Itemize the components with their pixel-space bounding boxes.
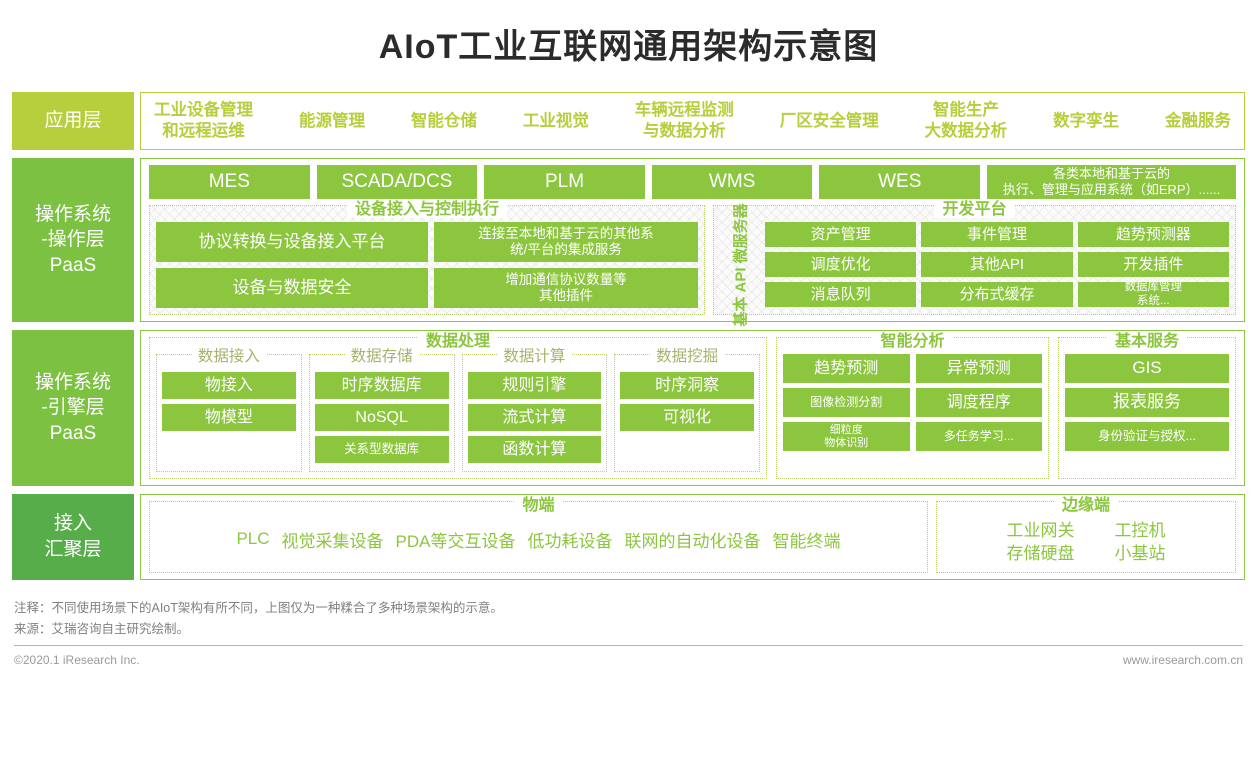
box-image-detection-segmentation[interactable]: 图像检测分割 <box>783 388 910 417</box>
group-basic-services: 基本服务 GIS 报表服务 身份验证与授权... <box>1058 337 1236 479</box>
footer-divider <box>14 645 1243 646</box>
box-integration-service[interactable]: 连接至本地和基于云的其他系 统/平台的集成服务 <box>434 222 698 262</box>
edge-item-small-base-station[interactable]: 小基站 <box>1115 543 1166 566</box>
system-box-wes[interactable]: WES <box>819 165 980 199</box>
box-scheduling-optimization[interactable]: 调度优化 <box>765 252 916 277</box>
box-trend-prediction[interactable]: 趋势预测 <box>783 354 910 383</box>
subgroup-title-data-mining: 数据挖掘 <box>615 344 759 366</box>
app-item-energy-mgmt[interactable]: 能源管理 <box>296 111 368 132</box>
thing-side-items: PLC 视觉采集设备 PDA等交互设备 低功耗设备 联网的自动化设备 智能终端 <box>156 518 921 560</box>
box-visualization[interactable]: 可视化 <box>620 404 754 431</box>
edge-item-industrial-computer[interactable]: 工控机 <box>1115 520 1166 543</box>
box-timeseries-database[interactable]: 时序数据库 <box>315 372 449 399</box>
system-box-wms[interactable]: WMS <box>652 165 813 199</box>
thing-item-networked-automation-device[interactable]: 联网的自动化设备 <box>625 527 761 552</box>
group-title-thing-side: 物端 <box>150 491 927 515</box>
basic-services-boxes: GIS 报表服务 身份验证与授权... <box>1065 354 1229 451</box>
group-intelligent-analysis: 智能分析 趋势预测 图像检测分割 细粒度 物体识别 异常预测 调度程序 多任务学… <box>776 337 1049 479</box>
box-timeseries-insight[interactable]: 时序洞察 <box>620 372 754 399</box>
dev-platform-column-1: 资产管理 调度优化 消息队列 <box>765 222 916 307</box>
data-computation-boxes: 规则引擎 流式计算 函数计算 <box>468 372 602 463</box>
layer-label-engine-line1: 操作系统 <box>35 370 111 396</box>
box-trend-predictor[interactable]: 趋势预测器 <box>1078 222 1229 247</box>
operation-systems-row: MES SCADA/DCS PLM WMS WES 各类本地和基于云的 执行、管… <box>149 165 1236 199</box>
dev-platform-column-2: 事件管理 其他API 分布式缓存 <box>921 222 1072 307</box>
app-item-smart-warehouse[interactable]: 智能仓储 <box>408 111 480 132</box>
system-box-erp-other[interactable]: 各类本地和基于云的 执行、管理与应用系统（如ERP）...... <box>987 165 1236 199</box>
box-rule-engine[interactable]: 规则引擎 <box>468 372 602 399</box>
edge-side-column-1: 工业网关 存储硬盘 <box>1007 520 1075 566</box>
page-title: AIoT工业互联网通用架构示意图 <box>0 0 1257 92</box>
edge-side-column-2: 工控机 小基站 <box>1115 520 1166 566</box>
app-item-vehicle-monitoring[interactable]: 车辆远程监测 与数据分析 <box>632 100 737 141</box>
layer-body-operation: MES SCADA/DCS PLM WMS WES 各类本地和基于云的 执行、管… <box>140 158 1245 322</box>
edge-item-storage-disk[interactable]: 存储硬盘 <box>1007 543 1075 566</box>
development-platform-columns: 资产管理 调度优化 消息队列 事件管理 其他API 分布式缓存 趋势预测器 <box>765 222 1229 307</box>
box-asset-management[interactable]: 资产管理 <box>765 222 916 247</box>
group-edge-side: 边缘端 工业网关 存储硬盘 工控机 小基站 <box>936 501 1236 573</box>
group-development-platform: 开发平台 基本 API 微服务器 资产管理 调度优化 消息队列 <box>713 205 1236 315</box>
engine-groups-row: 数据处理 数据接入 物接入 物模型 <box>149 337 1236 479</box>
thing-item-pda-interactive-device[interactable]: PDA等交互设备 <box>396 527 516 552</box>
intelligent-analysis-column-1: 趋势预测 图像检测分割 细粒度 物体识别 <box>783 354 910 451</box>
footer-note-line1: 注释：不同使用场景下的AIoT架构有所不同，上图仅为一种糅合了多种场景架构的示意… <box>14 598 1243 619</box>
group-data-processing: 数据处理 数据接入 物接入 物模型 <box>149 337 767 479</box>
subgroup-title-data-ingestion: 数据接入 <box>157 344 301 366</box>
data-storage-boxes: 时序数据库 NoSQL 关系型数据库 <box>315 372 449 463</box>
device-access-right-column: 连接至本地和基于云的其他系 统/平台的集成服务 增加通信协议数量等 其他插件 <box>434 222 698 308</box>
dev-platform-column-3: 趋势预测器 开发插件 数据库管理 系统... <box>1078 222 1229 307</box>
layer-label-engine: 操作系统 -引擎层 PaaS <box>12 330 134 486</box>
box-anomaly-prediction[interactable]: 异常预测 <box>916 354 1043 383</box>
edge-item-industrial-gateway[interactable]: 工业网关 <box>1007 520 1075 543</box>
box-other-plugins[interactable]: 增加通信协议数量等 其他插件 <box>434 268 698 308</box>
group-title-development-platform: 开发平台 <box>714 195 1235 219</box>
data-mining-boxes: 时序洞察 可视化 <box>620 372 754 431</box>
app-item-financial-services[interactable]: 金融服务 <box>1162 111 1234 132</box>
box-function-computing[interactable]: 函数计算 <box>468 436 602 463</box>
app-item-plant-safety[interactable]: 厂区安全管理 <box>777 111 882 132</box>
subgroup-data-ingestion: 数据接入 物接入 物模型 <box>156 354 302 472</box>
footer-note-line2: 来源：艾瑞咨询自主研究绘制。 <box>14 619 1243 640</box>
group-title-device-access: 设备接入与控制执行 <box>150 195 704 219</box>
layer-engine: 操作系统 -引擎层 PaaS 数据处理 数据接入 <box>12 330 1245 486</box>
footer: 注释：不同使用场景下的AIoT架构有所不同，上图仅为一种糅合了多种场景架构的示意… <box>0 588 1257 667</box>
layer-label-application-text: 应用层 <box>44 108 101 134</box>
box-thing-model[interactable]: 物模型 <box>162 404 296 431</box>
layer-label-access-line1: 接入 <box>54 511 92 537</box>
layer-label-engine-line3: PaaS <box>50 421 96 447</box>
box-multitask-learning[interactable]: 多任务学习... <box>916 422 1043 451</box>
box-other-api[interactable]: 其他API <box>921 252 1072 277</box>
thing-item-smart-terminal[interactable]: 智能终端 <box>773 527 841 552</box>
layer-label-access: 接入 汇聚层 <box>12 494 134 580</box>
system-box-plm[interactable]: PLM <box>484 165 645 199</box>
thing-item-low-power-device[interactable]: 低功耗设备 <box>528 527 613 552</box>
copyright-text: ©2020.1 iResearch Inc. <box>14 653 140 667</box>
subgroup-title-data-storage: 数据存储 <box>310 344 454 366</box>
app-item-digital-twin[interactable]: 数字孪生 <box>1050 111 1122 132</box>
box-nosql[interactable]: NoSQL <box>315 404 449 431</box>
thing-item-plc[interactable]: PLC <box>236 529 269 549</box>
layer-body-application: 工业设备管理 和远程运维 能源管理 智能仓储 工业视觉 车辆远程监测 与数据分析… <box>140 92 1245 150</box>
group-thing-side: 物端 PLC 视觉采集设备 PDA等交互设备 低功耗设备 联网的自动化设备 智能… <box>149 501 928 573</box>
group-title-intelligent-analysis: 智能分析 <box>777 327 1048 351</box>
footer-bottom-row: ©2020.1 iResearch Inc. www.iresearch.com… <box>14 653 1243 667</box>
box-relational-database[interactable]: 关系型数据库 <box>315 436 449 463</box>
layer-access: 接入 汇聚层 物端 PLC 视觉采集设备 PDA等交互设备 低功耗设备 联网的自… <box>12 494 1245 580</box>
device-access-boxes: 协议转换与设备接入平台 设备与数据安全 连接至本地和基于云的其他系 统/平台的集… <box>156 222 698 308</box>
box-thing-access[interactable]: 物接入 <box>162 372 296 399</box>
development-platform-inner: 基本 API 微服务器 资产管理 调度优化 消息队列 事件管理 其他API <box>720 222 1229 307</box>
system-box-mes[interactable]: MES <box>149 165 310 199</box>
group-title-basic-services: 基本服务 <box>1059 327 1235 351</box>
box-message-queue[interactable]: 消息队列 <box>765 282 916 307</box>
subgroup-title-data-computation: 数据计算 <box>463 344 607 366</box>
thing-item-vision-capture-device[interactable]: 视觉采集设备 <box>282 527 384 552</box>
vertical-api-label-wrap: 基本 API 微服务器 <box>720 222 760 307</box>
app-item-industrial-vision[interactable]: 工业视觉 <box>520 111 592 132</box>
data-ingestion-boxes: 物接入 物模型 <box>162 372 296 431</box>
vertical-api-label: 基本 API 微服务器 <box>730 203 751 326</box>
edge-side-items: 工业网关 存储硬盘 工控机 小基站 <box>943 518 1229 566</box>
website-link[interactable]: www.iresearch.com.cn <box>1123 653 1243 667</box>
system-box-scada-dcs[interactable]: SCADA/DCS <box>317 165 478 199</box>
app-item-smart-production[interactable]: 智能生产 大数据分析 <box>922 100 1011 141</box>
box-gis[interactable]: GIS <box>1065 354 1229 383</box>
layer-application: 应用层 工业设备管理 和远程运维 能源管理 智能仓储 工业视觉 车辆远程监测 与… <box>12 92 1245 150</box>
subgroup-data-computation: 数据计算 规则引擎 流式计算 函数计算 <box>462 354 608 472</box>
layer-label-operation-line2: -操作层 <box>41 227 104 253</box>
layer-label-application: 应用层 <box>12 92 134 150</box>
box-report-service[interactable]: 报表服务 <box>1065 388 1229 417</box>
layer-label-operation: 操作系统 -操作层 PaaS <box>12 158 134 322</box>
layer-body-access: 物端 PLC 视觉采集设备 PDA等交互设备 低功耗设备 联网的自动化设备 智能… <box>140 494 1245 580</box>
intelligent-analysis-column-2: 异常预测 调度程序 多任务学习... <box>916 354 1043 451</box>
layer-label-access-line2: 汇聚层 <box>44 537 101 563</box>
intelligent-analysis-columns: 趋势预测 图像检测分割 细粒度 物体识别 异常预测 调度程序 多任务学习... <box>783 354 1042 451</box>
box-distributed-cache[interactable]: 分布式缓存 <box>921 282 1072 307</box>
app-item-equipment-mgmt[interactable]: 工业设备管理 和远程运维 <box>151 100 256 141</box>
data-processing-subgroups: 数据接入 物接入 物模型 数据存储 时 <box>156 354 760 472</box>
layer-operation: 操作系统 -操作层 PaaS MES SCADA/DCS PLM WMS WES… <box>12 158 1245 322</box>
layer-body-engine: 数据处理 数据接入 物接入 物模型 <box>140 330 1245 486</box>
box-development-plugin[interactable]: 开发插件 <box>1078 252 1229 277</box>
box-authentication-authorization[interactable]: 身份验证与授权... <box>1065 422 1229 451</box>
box-fine-grained-object-recognition[interactable]: 细粒度 物体识别 <box>783 422 910 451</box>
application-item-list: 工业设备管理 和远程运维 能源管理 智能仓储 工业视觉 车辆远程监测 与数据分析… <box>149 99 1236 143</box>
box-device-data-security[interactable]: 设备与数据安全 <box>156 268 428 308</box>
box-event-management[interactable]: 事件管理 <box>921 222 1072 247</box>
layer-label-engine-line2: -引擎层 <box>41 395 104 421</box>
layer-label-operation-line1: 操作系统 <box>35 202 111 228</box>
access-groups-row: 物端 PLC 视觉采集设备 PDA等交互设备 低功耗设备 联网的自动化设备 智能… <box>149 501 1236 573</box>
box-stream-computing[interactable]: 流式计算 <box>468 404 602 431</box>
subgroup-data-storage: 数据存储 时序数据库 NoSQL 关系型数据库 <box>309 354 455 472</box>
subgroup-data-mining: 数据挖掘 时序洞察 可视化 <box>614 354 760 472</box>
box-scheduling-program[interactable]: 调度程序 <box>916 388 1043 417</box>
layer-label-operation-line3: PaaS <box>50 253 96 279</box>
box-protocol-conversion-platform[interactable]: 协议转换与设备接入平台 <box>156 222 428 262</box>
device-access-left-column: 协议转换与设备接入平台 设备与数据安全 <box>156 222 428 308</box>
operation-middle-row: 设备接入与控制执行 协议转换与设备接入平台 设备与数据安全 连接至本地和基于云的… <box>149 205 1236 315</box>
group-device-access-control: 设备接入与控制执行 协议转换与设备接入平台 设备与数据安全 连接至本地和基于云的… <box>149 205 705 315</box>
box-database-management-system[interactable]: 数据库管理 系统... <box>1078 282 1229 307</box>
group-title-edge-side: 边缘端 <box>937 491 1235 515</box>
architecture-diagram: 应用层 工业设备管理 和远程运维 能源管理 智能仓储 工业视觉 车辆远程监测 与… <box>0 92 1257 580</box>
